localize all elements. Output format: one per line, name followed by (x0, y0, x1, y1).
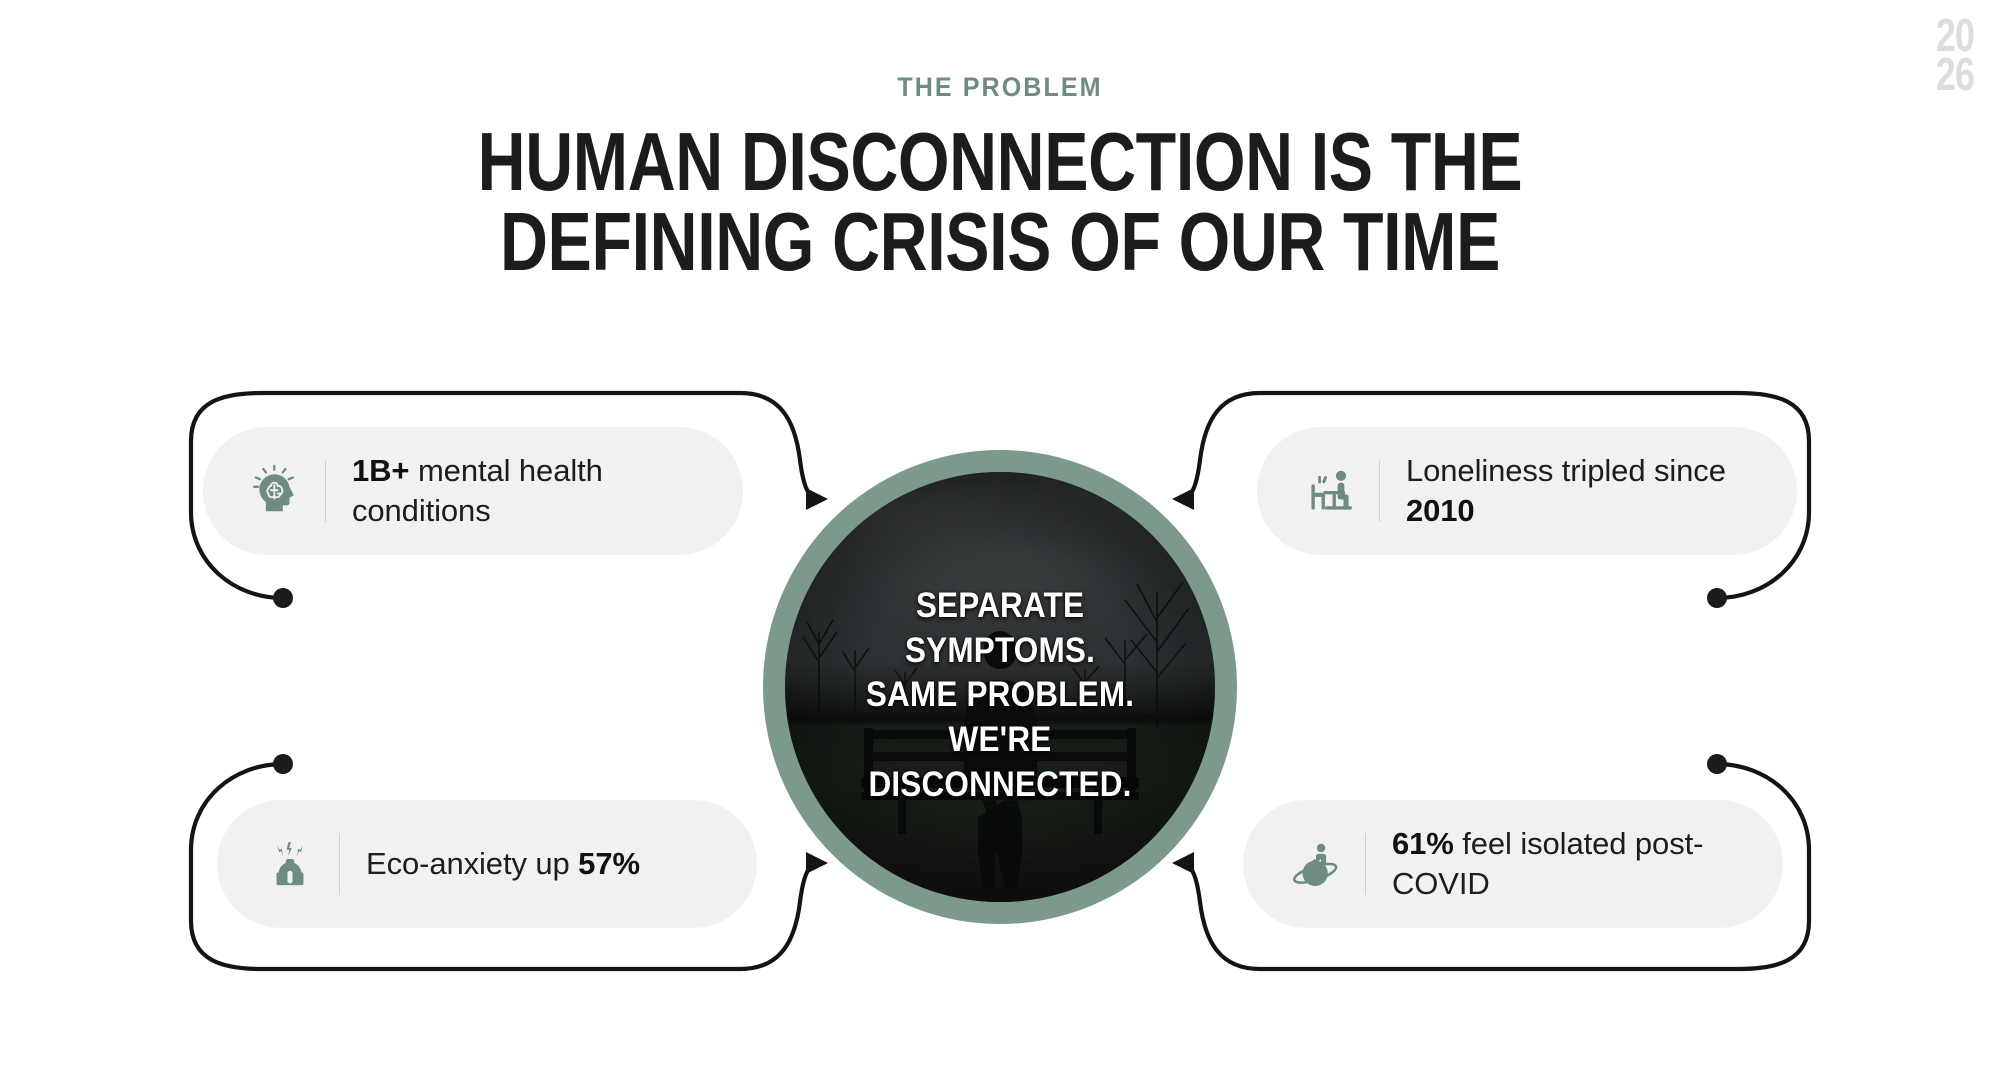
dot-top-right (1707, 588, 1727, 608)
person-alone-at-table-icon (1291, 452, 1369, 530)
center-circle: SEPARATE SYMPTOMS. SAME PROBLEM. WE'RE D… (763, 450, 1237, 924)
stat-card-isolation[interactable]: 61% feel isolated post-COVID (1243, 800, 1783, 928)
stat-label-eco-anxiety: Eco-anxiety up (366, 846, 578, 881)
stat-value-loneliness: 2010 (1406, 493, 1475, 528)
card-divider (1365, 833, 1366, 895)
eco-anxiety-backpack-icon (251, 825, 329, 903)
dot-top-left (273, 588, 293, 608)
center-line-1: SEPARATE SYMPTOMS. (823, 584, 1178, 674)
stat-value-mental-health: 1B+ (352, 453, 409, 488)
card-divider (339, 833, 340, 895)
stat-text-mental-health: 1B+ mental health conditions (352, 451, 709, 532)
dot-bottom-left (273, 754, 293, 774)
stat-card-loneliness[interactable]: Loneliness tripled since 2010 (1257, 427, 1797, 555)
stat-card-mental-health[interactable]: 1B+ mental health conditions (203, 427, 743, 555)
stat-value-isolation: 61% (1392, 826, 1454, 861)
stat-card-eco-anxiety[interactable]: Eco-anxiety up 57% (217, 800, 757, 928)
center-statement: SEPARATE SYMPTOMS. SAME PROBLEM. WE'RE D… (785, 584, 1215, 808)
stat-label-loneliness: Loneliness tripled since (1406, 453, 1726, 488)
card-divider (1379, 460, 1380, 522)
head-with-brain-icon (237, 452, 315, 530)
stat-text-eco-anxiety: Eco-anxiety up 57% (366, 844, 640, 884)
center-line-3: WE'RE DISCONNECTED. (823, 718, 1178, 808)
dot-bottom-right (1707, 754, 1727, 774)
stat-value-eco-anxiety: 57% (578, 846, 640, 881)
card-divider (325, 460, 326, 522)
center-line-2: SAME PROBLEM. (823, 673, 1178, 718)
person-on-planet-icon (1277, 825, 1355, 903)
center-photo: SEPARATE SYMPTOMS. SAME PROBLEM. WE'RE D… (785, 472, 1215, 902)
slide-canvas: 20 26 THE PROBLEM HUMAN DISCONNECTION IS… (0, 0, 2000, 1078)
stat-text-loneliness: Loneliness tripled since 2010 (1406, 451, 1763, 532)
stat-text-isolation: 61% feel isolated post-COVID (1392, 824, 1749, 905)
